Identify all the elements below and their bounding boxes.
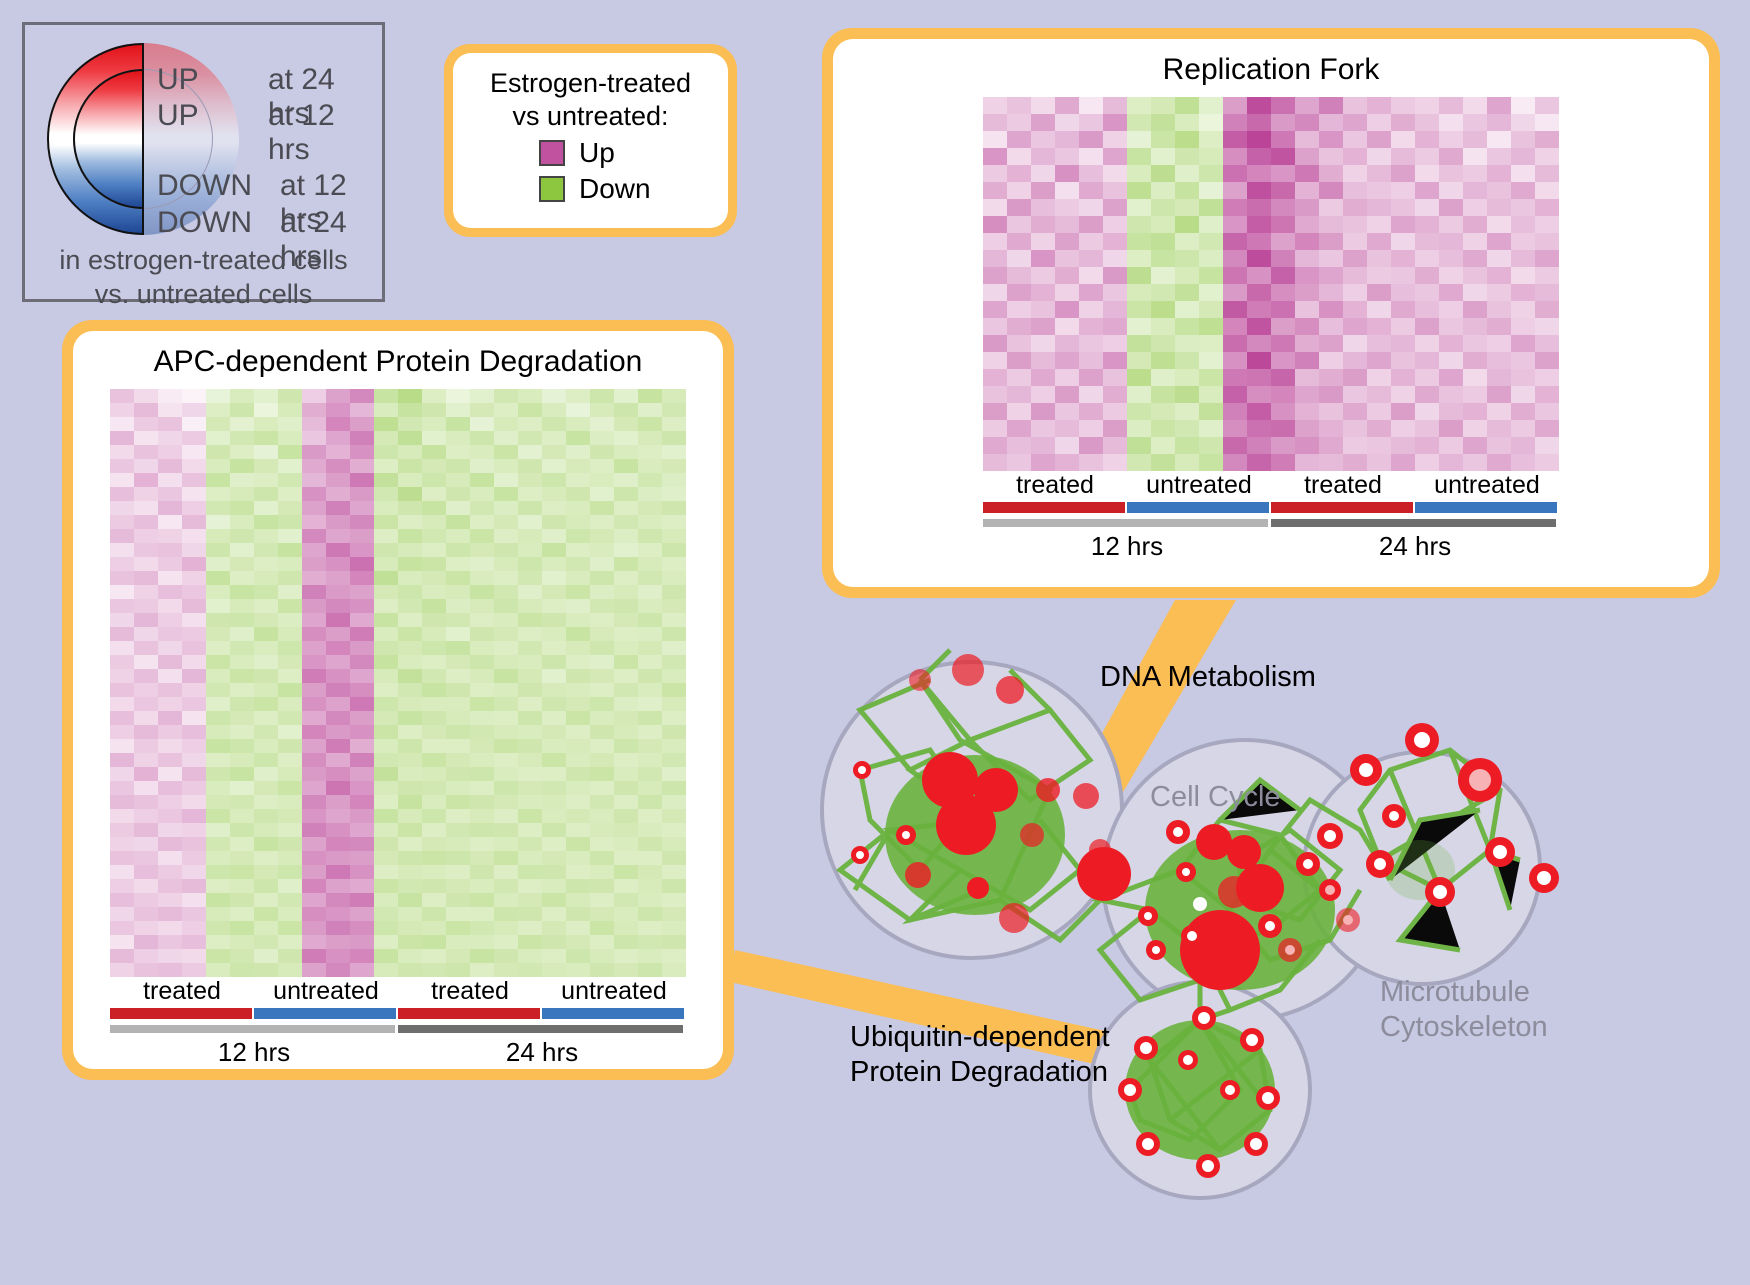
- heat-cell: [590, 459, 614, 473]
- heat-cell: [662, 683, 686, 697]
- heat-cell: [398, 809, 422, 823]
- heat-cell: [110, 683, 134, 697]
- heat-cell: [1199, 97, 1223, 114]
- heat-cell: [350, 529, 374, 543]
- heat-cell: [638, 459, 662, 473]
- heat-cell: [158, 389, 182, 403]
- heat-cell: [1055, 454, 1079, 471]
- heat-cell: [350, 431, 374, 445]
- heat-cell: [1271, 182, 1295, 199]
- heat-cell: [1055, 114, 1079, 131]
- heat-cell: [182, 403, 206, 417]
- heat-cell: [1223, 454, 1247, 471]
- heat-cell: [662, 627, 686, 641]
- axis-group-label: treated: [398, 977, 542, 1006]
- heat-cell: [1151, 386, 1175, 403]
- heat-cell: [1271, 165, 1295, 182]
- heat-cell: [134, 557, 158, 571]
- heat-cell: [1175, 97, 1199, 114]
- heat-cell: [1079, 284, 1103, 301]
- heat-cell: [374, 921, 398, 935]
- heat-cell: [1463, 420, 1487, 437]
- heat-cell: [254, 543, 278, 557]
- heat-cell: [302, 851, 326, 865]
- heat-cell: [566, 837, 590, 851]
- heat-cell: [542, 431, 566, 445]
- heat-cell: [422, 487, 446, 501]
- heat-cell: [1463, 437, 1487, 454]
- heat-cell: [1007, 182, 1031, 199]
- heat-cell: [374, 837, 398, 851]
- heat-cell: [206, 501, 230, 515]
- heat-cell: [326, 389, 350, 403]
- heat-cell: [278, 963, 302, 977]
- heat-cell: [1247, 301, 1271, 318]
- heat-cell: [614, 627, 638, 641]
- heat-cell: [206, 921, 230, 935]
- heat-cell: [1487, 97, 1511, 114]
- heat-cell: [662, 711, 686, 725]
- heat-cell: [158, 795, 182, 809]
- heat-cell: [110, 515, 134, 529]
- heat-cell: [1223, 114, 1247, 131]
- heat-cell: [590, 893, 614, 907]
- heat-cell: [638, 431, 662, 445]
- heat-cell: [1319, 233, 1343, 250]
- heat-cell: [134, 697, 158, 711]
- heat-cell: [1007, 403, 1031, 420]
- heat-cell: [662, 403, 686, 417]
- heat-cell: [206, 879, 230, 893]
- heat-cell: [470, 697, 494, 711]
- heat-cell: [1007, 301, 1031, 318]
- heat-cell: [206, 585, 230, 599]
- heat-cell: [1127, 335, 1151, 352]
- heat-cell: [1295, 182, 1319, 199]
- heat-cell: [1487, 199, 1511, 216]
- heat-cell: [518, 403, 542, 417]
- heat-cell: [374, 571, 398, 585]
- heat-cell: [566, 823, 590, 837]
- heat-cell: [446, 515, 470, 529]
- heat-cell: [278, 599, 302, 613]
- heat-cell: [422, 753, 446, 767]
- heat-cell: [1199, 233, 1223, 250]
- heat-cell: [1415, 97, 1439, 114]
- heat-cell: [1343, 250, 1367, 267]
- heat-cell: [1391, 267, 1415, 284]
- heat-cell: [638, 683, 662, 697]
- heat-cell: [1439, 267, 1463, 284]
- heat-cell: [398, 571, 422, 585]
- heat-cell: [446, 865, 470, 879]
- heat-cell: [662, 935, 686, 949]
- heat-cell: [638, 893, 662, 907]
- heat-cell: [494, 711, 518, 725]
- network-svg: [800, 620, 1590, 1280]
- heat-cell: [1511, 352, 1535, 369]
- heat-cell: [398, 753, 422, 767]
- heat-cell: [230, 487, 254, 501]
- heat-cell: [1415, 318, 1439, 335]
- heat-cell: [566, 473, 590, 487]
- heat-cell: [158, 949, 182, 963]
- heat-cell: [206, 641, 230, 655]
- heat-cell: [1511, 284, 1535, 301]
- heat-cell: [1463, 335, 1487, 352]
- heat-cell: [230, 641, 254, 655]
- heat-cell: [983, 437, 1007, 454]
- heat-cell: [326, 683, 350, 697]
- heat-cell: [1511, 216, 1535, 233]
- heat-cell: [326, 431, 350, 445]
- heat-cell: [566, 851, 590, 865]
- heat-cell: [470, 389, 494, 403]
- heat-cell: [1271, 369, 1295, 386]
- heat-cell: [1463, 97, 1487, 114]
- heat-cell: [662, 949, 686, 963]
- heat-cell: [1247, 131, 1271, 148]
- heat-cell: [1175, 369, 1199, 386]
- heat-cell: [398, 669, 422, 683]
- heat-cell: [230, 613, 254, 627]
- heat-cell: [206, 809, 230, 823]
- heat-cell: [1295, 165, 1319, 182]
- heat-cell: [1127, 386, 1151, 403]
- heat-cell: [1175, 199, 1199, 216]
- heat-cell: [350, 683, 374, 697]
- heat-cell: [1223, 420, 1247, 437]
- heat-cell: [158, 403, 182, 417]
- heat-cell: [1463, 182, 1487, 199]
- heat-cell: [350, 417, 374, 431]
- heat-cell: [542, 417, 566, 431]
- heat-cell: [182, 725, 206, 739]
- heat-cell: [278, 753, 302, 767]
- heat-cell: [1151, 437, 1175, 454]
- panel-replication-title: Replication Fork: [1163, 53, 1380, 87]
- heat-cell: [254, 641, 278, 655]
- heat-cell: [446, 781, 470, 795]
- heat-cell: [1439, 454, 1463, 471]
- heat-cell: [1031, 318, 1055, 335]
- heat-cell: [1487, 250, 1511, 267]
- heat-cell: [542, 865, 566, 879]
- heat-cell: [446, 753, 470, 767]
- heat-cell: [158, 879, 182, 893]
- axis-group-label: untreated: [1127, 471, 1271, 500]
- heat-cell: [1271, 352, 1295, 369]
- heat-cell: [326, 921, 350, 935]
- heat-cell: [518, 795, 542, 809]
- heat-cell: [422, 669, 446, 683]
- heat-cell: [1223, 216, 1247, 233]
- heat-cell: [566, 487, 590, 501]
- heat-cell: [1151, 165, 1175, 182]
- heat-cell: [206, 515, 230, 529]
- heat-cell: [158, 837, 182, 851]
- heat-cell: [230, 795, 254, 809]
- heat-cell: [1439, 131, 1463, 148]
- heat-cell: [1535, 454, 1559, 471]
- heat-cell: [1223, 437, 1247, 454]
- heat-cell: [1319, 148, 1343, 165]
- heat-cell: [230, 893, 254, 907]
- heat-cell: [230, 529, 254, 543]
- heat-cell: [446, 879, 470, 893]
- heat-cell: [662, 753, 686, 767]
- heat-cell: [206, 851, 230, 865]
- heat-cell: [134, 865, 158, 879]
- heat-cell: [374, 963, 398, 977]
- heat-cell: [302, 809, 326, 823]
- heat-cell: [1295, 386, 1319, 403]
- heat-cell: [230, 837, 254, 851]
- heat-cell: [398, 487, 422, 501]
- heat-cell: [254, 725, 278, 739]
- heat-cell: [1055, 284, 1079, 301]
- heat-cell: [422, 655, 446, 669]
- heat-cell: [518, 473, 542, 487]
- heat-cell: [614, 641, 638, 655]
- heat-cell: [1439, 165, 1463, 182]
- heat-cell: [110, 809, 134, 823]
- heat-cell: [134, 543, 158, 557]
- heat-cell: [182, 683, 206, 697]
- heat-cell: [494, 445, 518, 459]
- heat-cell: [182, 851, 206, 865]
- heat-cell: [446, 445, 470, 459]
- heat-cell: [398, 641, 422, 655]
- heat-cell: [1031, 352, 1055, 369]
- heat-cell: [614, 585, 638, 599]
- heat-cell: [422, 865, 446, 879]
- heat-cell: [662, 921, 686, 935]
- heat-cell: [1487, 267, 1511, 284]
- heat-cell: [182, 585, 206, 599]
- heat-cell: [422, 949, 446, 963]
- heat-cell: [446, 725, 470, 739]
- heat-cell: [1223, 369, 1247, 386]
- heat-cell: [422, 907, 446, 921]
- heat-cell: [398, 781, 422, 795]
- heat-cell: [326, 753, 350, 767]
- heat-cell: [1511, 335, 1535, 352]
- heat-cell: [566, 935, 590, 949]
- heat-cell: [1175, 114, 1199, 131]
- heat-cell: [302, 655, 326, 669]
- heat-cell: [110, 781, 134, 795]
- heat-cell: [230, 697, 254, 711]
- heat-cell: [614, 459, 638, 473]
- heat-cell: [326, 515, 350, 529]
- heat-cell: [1007, 284, 1031, 301]
- heat-cell: [1247, 233, 1271, 250]
- heat-cell: [374, 487, 398, 501]
- heat-cell: [302, 963, 326, 977]
- heat-cell: [1127, 182, 1151, 199]
- heat-cell: [134, 473, 158, 487]
- heat-cell: [1415, 250, 1439, 267]
- heat-cell: [446, 683, 470, 697]
- heat-cell: [374, 599, 398, 613]
- heat-cell: [374, 529, 398, 543]
- heat-cell: [662, 515, 686, 529]
- axis-group-label: treated: [110, 977, 254, 1006]
- heat-cell: [446, 487, 470, 501]
- heat-cell: [374, 851, 398, 865]
- heat-cell: [638, 403, 662, 417]
- heat-cell: [1463, 114, 1487, 131]
- heat-cell: [470, 473, 494, 487]
- heat-cell: [134, 781, 158, 795]
- heat-cell: [302, 571, 326, 585]
- heat-cell: [542, 949, 566, 963]
- heat-cell: [1199, 403, 1223, 420]
- heat-cell: [542, 585, 566, 599]
- heat-cell: [590, 823, 614, 837]
- heat-cell: [206, 557, 230, 571]
- heat-cell: [1271, 216, 1295, 233]
- heat-cell: [1175, 454, 1199, 471]
- heat-cell: [158, 809, 182, 823]
- heat-cell: [518, 683, 542, 697]
- heat-cell: [134, 809, 158, 823]
- heat-cell: [110, 823, 134, 837]
- heat-cell: [518, 753, 542, 767]
- heat-cell: [638, 389, 662, 403]
- heat-cell: [110, 795, 134, 809]
- heat-cell: [1511, 131, 1535, 148]
- heat-cell: [1199, 216, 1223, 233]
- heat-cell: [206, 893, 230, 907]
- heat-cell: [1055, 318, 1079, 335]
- heat-cell: [518, 907, 542, 921]
- heat-cell: [542, 613, 566, 627]
- heat-cell: [1055, 216, 1079, 233]
- heat-cell: [254, 921, 278, 935]
- heat-cell: [278, 655, 302, 669]
- heat-cell: [1103, 199, 1127, 216]
- heat-cell: [158, 515, 182, 529]
- heat-cell: [254, 557, 278, 571]
- heat-cell: [302, 613, 326, 627]
- heat-cell: [110, 963, 134, 977]
- heat-cell: [374, 557, 398, 571]
- heat-cell: [278, 935, 302, 949]
- heat-cell: [590, 935, 614, 949]
- heat-cell: [110, 627, 134, 641]
- heat-cell: [350, 655, 374, 669]
- heat-cell: [1511, 318, 1535, 335]
- heat-cell: [470, 571, 494, 585]
- heat-cell: [350, 753, 374, 767]
- heat-cell: [638, 935, 662, 949]
- heat-cell: [278, 893, 302, 907]
- heat-cell: [1295, 420, 1319, 437]
- heat-cell: [638, 753, 662, 767]
- heat-cell: [518, 893, 542, 907]
- heat-cell: [494, 795, 518, 809]
- heat-cell: [206, 473, 230, 487]
- heat-cell: [134, 683, 158, 697]
- heat-cell: [1271, 335, 1295, 352]
- heat-cell: [134, 487, 158, 501]
- heat-cell: [110, 753, 134, 767]
- heat-cell: [614, 445, 638, 459]
- heat-cell: [494, 781, 518, 795]
- heat-cell: [470, 529, 494, 543]
- heat-cell: [1031, 284, 1055, 301]
- heat-cell: [134, 767, 158, 781]
- heat-cell: [1295, 284, 1319, 301]
- heat-cell: [158, 865, 182, 879]
- heat-cell: [518, 627, 542, 641]
- heat-cell: [1367, 454, 1391, 471]
- heat-cell: [614, 403, 638, 417]
- heat-cell: [590, 767, 614, 781]
- heat-cell: [1031, 267, 1055, 284]
- axis-time-bar: [110, 1025, 395, 1033]
- heat-cell: [1271, 233, 1295, 250]
- heat-cell: [1511, 97, 1535, 114]
- heat-cell: [1439, 182, 1463, 199]
- heat-cell: [230, 417, 254, 431]
- heat-cell: [638, 515, 662, 529]
- heat-cell: [638, 473, 662, 487]
- heat-cell: [542, 501, 566, 515]
- heat-cell: [182, 487, 206, 501]
- heat-cell: [422, 963, 446, 977]
- heat-cell: [1199, 420, 1223, 437]
- heat-cell: [326, 711, 350, 725]
- heat-cell: [1151, 182, 1175, 199]
- heat-cell: [1103, 250, 1127, 267]
- heat-cell: [542, 515, 566, 529]
- heat-cell: [230, 907, 254, 921]
- heat-cell: [374, 865, 398, 879]
- heat-cell: [1223, 233, 1247, 250]
- heat-cell: [494, 613, 518, 627]
- heat-cell: [1247, 97, 1271, 114]
- heat-cell: [638, 837, 662, 851]
- axis-group-bar: [110, 1008, 252, 1019]
- heat-cell: [302, 725, 326, 739]
- heat-cell: [566, 963, 590, 977]
- heat-cell: [326, 543, 350, 557]
- label-cell-cycle: Cell Cycle: [1150, 780, 1281, 815]
- heat-cell: [1079, 301, 1103, 318]
- heat-cell: [230, 543, 254, 557]
- heat-cell: [1343, 131, 1367, 148]
- heat-cell: [614, 711, 638, 725]
- heat-cell: [398, 403, 422, 417]
- heat-cell: [302, 767, 326, 781]
- heat-cell: [1319, 284, 1343, 301]
- heat-cell: [350, 851, 374, 865]
- axis-time-label: 24 hrs: [398, 1037, 686, 1068]
- heat-cell: [1007, 199, 1031, 216]
- heat-cell: [1175, 216, 1199, 233]
- heat-cell: [206, 739, 230, 753]
- heat-cell: [350, 501, 374, 515]
- heat-cell: [1031, 114, 1055, 131]
- heat-cell: [614, 837, 638, 851]
- heat-cell: [182, 949, 206, 963]
- heat-cell: [1031, 437, 1055, 454]
- heat-cell: [494, 851, 518, 865]
- heat-cell: [1463, 318, 1487, 335]
